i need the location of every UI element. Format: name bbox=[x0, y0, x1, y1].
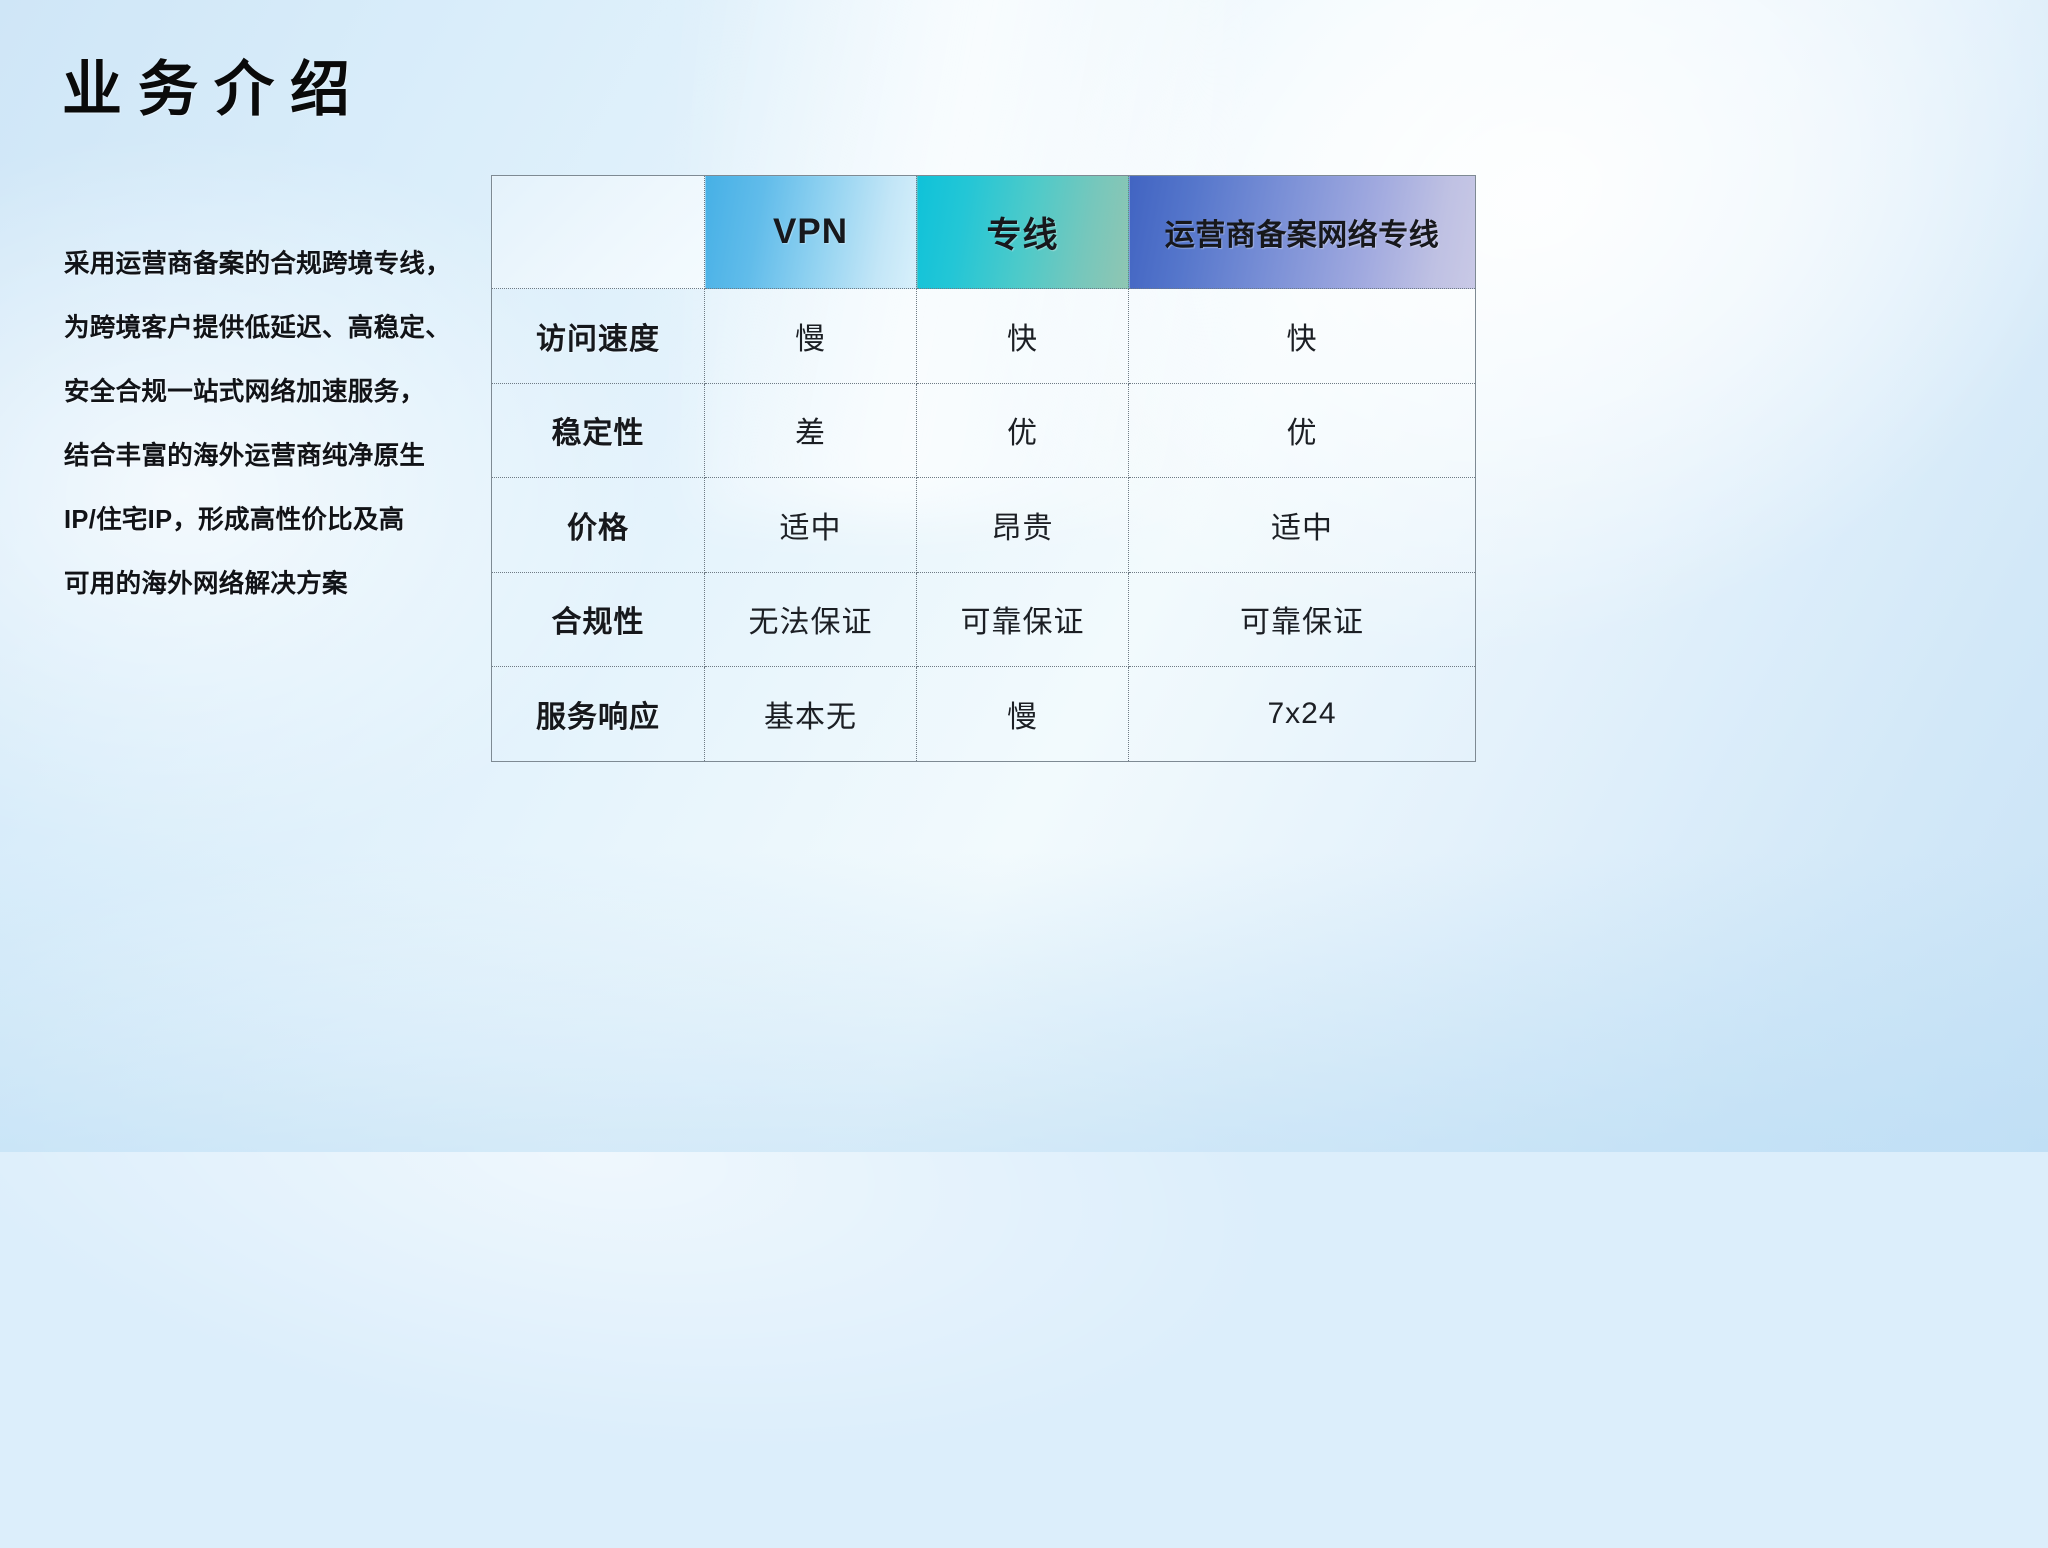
cell-value: 优 bbox=[1287, 417, 1318, 450]
row-label: 服务响应 bbox=[536, 701, 660, 734]
header-cell-vpn: VPN bbox=[705, 176, 917, 289]
cell-value: 基本无 bbox=[764, 701, 857, 734]
cell-value: 优 bbox=[1007, 417, 1038, 450]
cell-value: 适中 bbox=[780, 512, 842, 545]
intro-line: IP/住宅IP，形成高性价比及高 bbox=[64, 488, 484, 552]
intro-line: 可用的海外网络解决方案 bbox=[64, 552, 484, 616]
table-header: VPN 专线 运营商备案网络专线 bbox=[492, 176, 1476, 289]
table-row: 访问速度 慢 快 快 bbox=[492, 289, 1476, 384]
cell-telecom-filed-line: 优 bbox=[1129, 383, 1476, 478]
cell-telecom-filed-line: 7x24 bbox=[1129, 667, 1476, 762]
cell-dedicated-line: 优 bbox=[917, 383, 1129, 478]
cell-vpn: 无法保证 bbox=[705, 572, 917, 667]
table-row: 合规性 无法保证 可靠保证 可靠保证 bbox=[492, 572, 1476, 667]
cell-dedicated-line: 可靠保证 bbox=[917, 572, 1129, 667]
cell-value: 可靠保证 bbox=[1240, 606, 1364, 639]
cell-vpn: 慢 bbox=[705, 289, 917, 384]
intro-line: 结合丰富的海外运营商纯净原生 bbox=[64, 424, 484, 488]
table-row: 服务响应 基本无 慢 7x24 bbox=[492, 667, 1476, 762]
cell-vpn: 基本无 bbox=[705, 667, 917, 762]
header-cell-blank bbox=[492, 176, 705, 289]
header-cell-dedicated-line: 专线 bbox=[917, 176, 1129, 289]
row-label-cell: 合规性 bbox=[492, 572, 705, 667]
header-label-telecom-filed-line: 运营商备案网络专线 bbox=[1165, 219, 1440, 252]
table-header-row: VPN 专线 运营商备案网络专线 bbox=[492, 176, 1476, 289]
cell-telecom-filed-line: 适中 bbox=[1129, 478, 1476, 573]
cell-value: 7x24 bbox=[1267, 697, 1336, 730]
table-row: 价格 适中 昂贵 适中 bbox=[492, 478, 1476, 573]
cell-value: 慢 bbox=[1007, 701, 1038, 734]
table-body: 访问速度 慢 快 快 稳定性 差 优 优 价格 适中 昂贵 适中 合规性 无法保… bbox=[492, 289, 1476, 762]
intro-paragraph: 采用运营商备案的合规跨境专线， 为跨境客户提供低延迟、高稳定、 安全合规一站式网… bbox=[64, 232, 484, 616]
cell-vpn: 差 bbox=[705, 383, 917, 478]
cell-value: 无法保证 bbox=[749, 606, 873, 639]
cell-value: 快 bbox=[1007, 323, 1038, 356]
row-label-cell: 稳定性 bbox=[492, 383, 705, 478]
page-title: 业务介绍 bbox=[62, 57, 366, 123]
cell-value: 可靠保证 bbox=[961, 606, 1085, 639]
cell-value: 慢 bbox=[795, 323, 826, 356]
row-label-cell: 访问速度 bbox=[492, 289, 705, 384]
cell-dedicated-line: 慢 bbox=[917, 667, 1129, 762]
cell-value: 差 bbox=[795, 417, 826, 450]
intro-line: 采用运营商备案的合规跨境专线， bbox=[64, 232, 484, 296]
header-label-dedicated-line: 专线 bbox=[986, 216, 1058, 255]
cell-dedicated-line: 快 bbox=[917, 289, 1129, 384]
slide-canvas: 业务介绍 采用运营商备案的合规跨境专线， 为跨境客户提供低延迟、高稳定、 安全合… bbox=[0, 0, 2048, 1152]
cell-value: 昂贵 bbox=[992, 512, 1054, 545]
row-label: 合规性 bbox=[552, 606, 645, 639]
table-row: 稳定性 差 优 优 bbox=[492, 383, 1476, 478]
comparison-table: VPN 专线 运营商备案网络专线 访问速度 慢 快 快 稳定性 差 优 bbox=[491, 175, 1476, 762]
cell-value: 快 bbox=[1287, 323, 1318, 356]
cell-value: 适中 bbox=[1271, 512, 1333, 545]
cell-dedicated-line: 昂贵 bbox=[917, 478, 1129, 573]
header-label-vpn: VPN bbox=[773, 212, 848, 251]
row-label: 稳定性 bbox=[552, 417, 645, 450]
row-label: 访问速度 bbox=[536, 323, 660, 356]
row-label: 价格 bbox=[567, 512, 629, 545]
intro-line: 安全合规一站式网络加速服务， bbox=[64, 360, 484, 424]
intro-line: 为跨境客户提供低延迟、高稳定、 bbox=[64, 296, 484, 360]
cell-telecom-filed-line: 快 bbox=[1129, 289, 1476, 384]
row-label-cell: 价格 bbox=[492, 478, 705, 573]
cell-telecom-filed-line: 可靠保证 bbox=[1129, 572, 1476, 667]
header-cell-telecom-filed-line: 运营商备案网络专线 bbox=[1129, 176, 1476, 289]
cell-vpn: 适中 bbox=[705, 478, 917, 573]
row-label-cell: 服务响应 bbox=[492, 667, 705, 762]
